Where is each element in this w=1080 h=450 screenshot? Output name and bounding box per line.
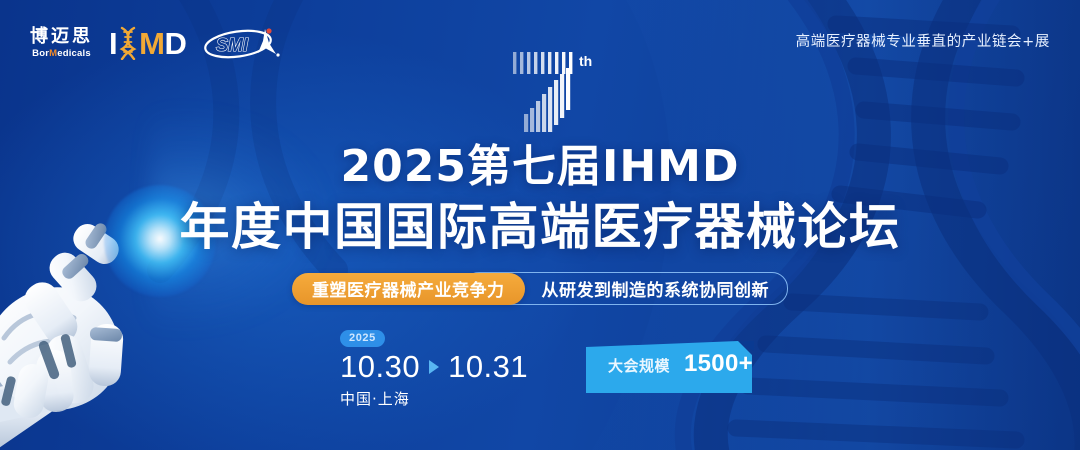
- edition-ordinal-suffix: th: [579, 53, 592, 69]
- event-date-start: 10.30: [340, 351, 420, 384]
- ihmd-logo-letter-d: D: [164, 28, 186, 59]
- ihmd-logo-letter-i: I: [109, 28, 117, 59]
- slogan-primary-pill: 重塑医疗器械产业竞争力: [292, 273, 525, 305]
- ihmd-logo: I M D: [109, 26, 186, 60]
- event-banner: 博迈思 BorMedicals I M D: [0, 0, 1080, 450]
- smi-logo: SMI: [202, 26, 282, 60]
- event-location: 中国·上海: [340, 388, 528, 409]
- dna-helix-icon: [118, 26, 138, 60]
- bormedicals-logo-en: BorMedicals: [32, 49, 91, 59]
- edition-seven-mark: th: [503, 44, 615, 148]
- event-scale-ribbon: 大会规模 1500+: [586, 341, 754, 393]
- event-date-block: 2025 10.30 10.31 中国·上海: [340, 328, 528, 409]
- header-tagline: 高端医疗器械专业垂直的产业链会+展: [796, 30, 1050, 51]
- event-title-line1: 2025第七届IHMD: [0, 145, 1080, 189]
- bormedicals-logo-en-after: edicals: [57, 48, 91, 59]
- slogan-group: 重塑医疗器械产业竞争力 从研发到制造的系统协同创新: [292, 272, 788, 305]
- svg-text:SMI: SMI: [216, 35, 249, 55]
- event-scale-label: 大会规模: [608, 355, 670, 376]
- bormedicals-logo-en-before: Bor: [32, 48, 49, 59]
- logo-row: 博迈思 BorMedicals I M D: [30, 26, 282, 60]
- play-triangle-icon: [429, 360, 439, 374]
- ihmd-logo-letter-m: M: [139, 28, 164, 59]
- event-date-end: 10.31: [448, 351, 528, 384]
- event-scale-value: 1500+: [684, 350, 753, 378]
- bormedicals-logo: 博迈思 BorMedicals: [30, 28, 93, 59]
- slogan-row: 重塑医疗器械产业竞争力 从研发到制造的系统协同创新: [0, 272, 1080, 305]
- event-title-line2: 年度中国国际高端医疗器械论坛: [0, 200, 1080, 255]
- event-year-badge: 2025: [340, 330, 385, 347]
- event-date-line: 10.30 10.31: [340, 351, 528, 384]
- bormedicals-logo-cn: 博迈思: [30, 28, 93, 46]
